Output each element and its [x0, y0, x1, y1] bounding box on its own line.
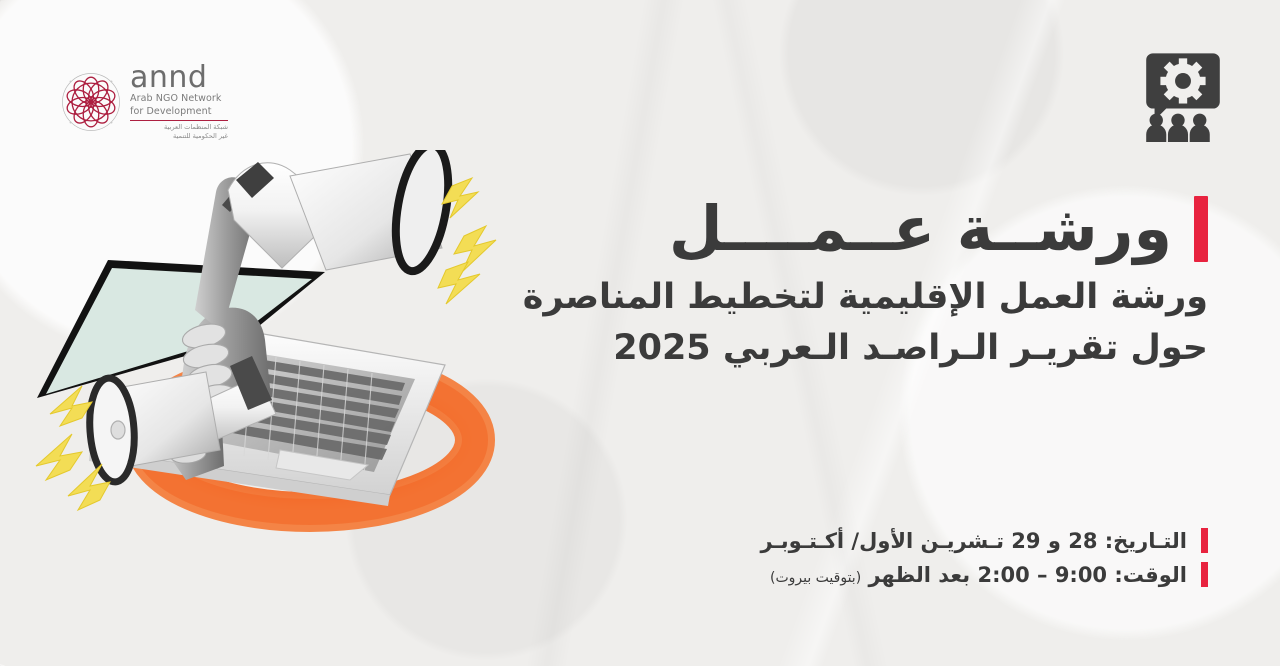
annd-logo[interactable]: annd Arab NGO Network for Development شب…: [60, 52, 265, 152]
detail-row-date: التـاريخ: 28 و 29 تـشريـن الأول/ أكـتـوب…: [588, 528, 1208, 553]
headline-block: ورشــة عــمــــل ورشة العمل الإقليمية لت…: [588, 196, 1208, 369]
annd-arabic-line2: غير الحكومية للتنمية: [130, 132, 228, 141]
annd-wordmark: annd: [130, 64, 228, 93]
date-accent-bar: [1201, 528, 1208, 553]
title-row: ورشــة عــمــــل: [588, 196, 1208, 262]
annd-arabic-line1: شبكة المنظمات العربية: [130, 123, 228, 132]
annd-tagline-line1: Arab NGO Network: [130, 93, 228, 104]
annd-rosette-mark: [60, 71, 122, 133]
subtitle-line-2: حول تقريـر الـراصـد الـعربي 2025: [588, 327, 1208, 370]
page-title: ورشــة عــمــــل: [669, 196, 1172, 261]
event-timezone-note: (بتوقيت بيروت): [770, 570, 861, 586]
event-time-main: الوقت: 9:00 – 2:00 بعد الظهر: [868, 563, 1187, 587]
event-time: الوقت: 9:00 – 2:00 بعد الظهر (بتوقيت بير…: [770, 563, 1187, 587]
workshop-banner: annd Arab NGO Network for Development شب…: [0, 0, 1280, 666]
subtitle-line-1: ورشة العمل الإقليمية لتخطيط المناصرة: [588, 276, 1208, 319]
laptop-megaphone-illustration: [0, 150, 590, 550]
annd-logo-divider: [130, 120, 228, 122]
workshop-presentation-icon: [1141, 50, 1225, 142]
event-details: التـاريخ: 28 و 29 تـشريـن الأول/ أكـتـوب…: [588, 528, 1208, 596]
detail-row-time: الوقت: 9:00 – 2:00 بعد الظهر (بتوقيت بير…: [588, 562, 1208, 587]
title-accent-bar: [1194, 196, 1208, 262]
annd-tagline-line2: for Development: [130, 106, 228, 117]
time-accent-bar: [1201, 562, 1208, 587]
annd-logo-text: annd Arab NGO Network for Development شب…: [130, 64, 228, 141]
event-date: التـاريخ: 28 و 29 تـشريـن الأول/ أكـتـوب…: [760, 529, 1187, 553]
